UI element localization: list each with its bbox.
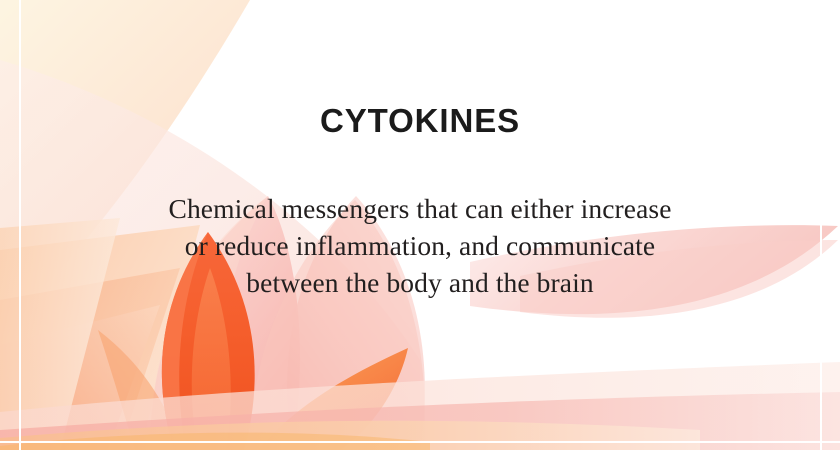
frame-line-right [820, 0, 822, 450]
page-title: CYTOKINES [0, 104, 840, 137]
description-line-1: Chemical messengers that can either incr… [0, 190, 840, 227]
slide-description: Chemical messengers that can either incr… [0, 190, 840, 301]
slide-canvas: CYTOKINES Chemical messengers that can e… [0, 0, 840, 450]
slide-content: CYTOKINES Chemical messengers that can e… [0, 0, 840, 450]
description-line-2: or reduce inflammation, and communicate [0, 227, 840, 264]
frame-line-bottom [0, 441, 840, 443]
frame-line-left [19, 0, 21, 450]
description-line-3: between the body and the brain [0, 264, 840, 301]
